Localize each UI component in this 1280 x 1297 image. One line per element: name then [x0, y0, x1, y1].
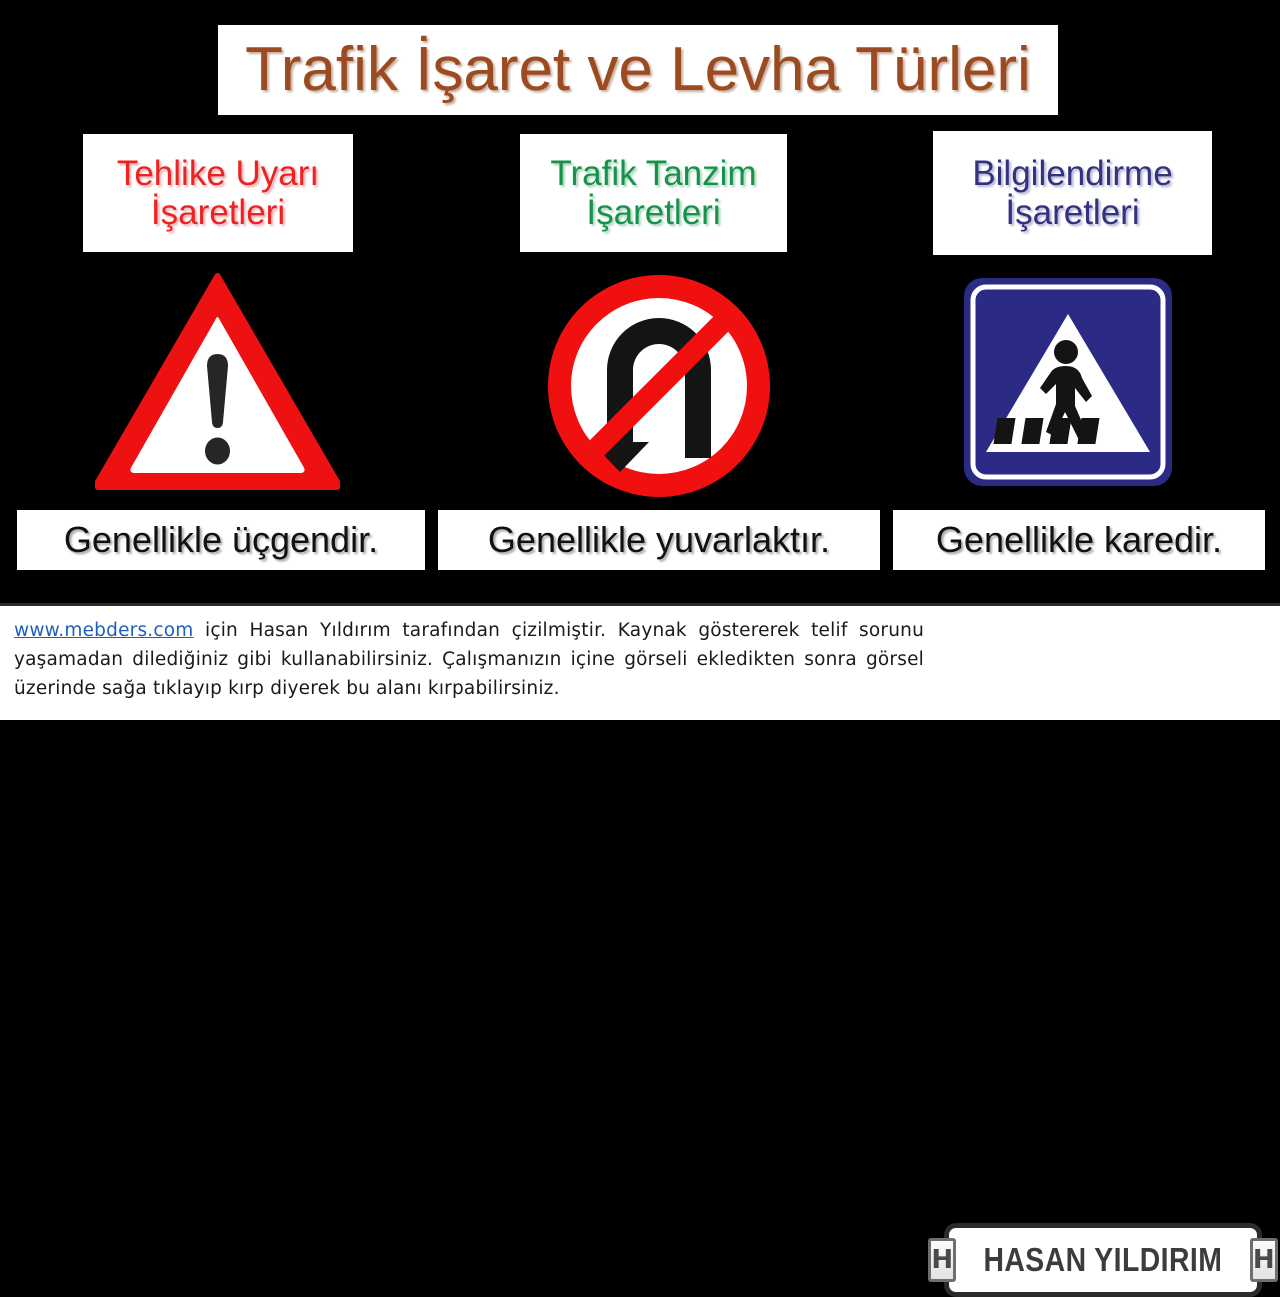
- category-header-line-1: Bilgilendirme: [972, 154, 1172, 193]
- hasan-yildirim-logo: H HASAN YILDIRIM H: [944, 1223, 1262, 1297]
- danger-warning-triangle-sign: [95, 272, 340, 490]
- category-header-line-1: Tehlike Uyarı: [117, 154, 319, 193]
- footer-bar: www.mebders.com için Hasan Yıldırım tara…: [0, 603, 1280, 720]
- page-title: Trafik İşaret ve Levha Türleri: [245, 39, 1031, 101]
- sign-slot-tehlike-uyari: [95, 272, 340, 490]
- caption-box-bilgilendirme: Genellikle karedir.: [893, 510, 1265, 570]
- monogram-right-icon: H: [1250, 1238, 1278, 1282]
- caption-box-tehlike-uyari: Genellikle üçgendir.: [17, 510, 425, 570]
- category-header-trafik-tanzim: Trafik Tanzim İşaretleri: [520, 134, 787, 252]
- title-banner: Trafik İşaret ve Levha Türleri: [218, 25, 1058, 115]
- caption-text: Genellikle üçgendir.: [64, 519, 378, 561]
- category-header-line-2: İşaretleri: [586, 193, 720, 232]
- logo-name-text: HASAN YILDIRIM: [984, 1241, 1223, 1279]
- caption-text: Genellikle yuvarlaktır.: [488, 519, 830, 561]
- no-u-turn-prohibition-sign: [545, 272, 773, 500]
- footer-credit-text: www.mebders.com için Hasan Yıldırım tara…: [14, 616, 924, 703]
- category-header-bilgilendirme: Bilgilendirme İşaretleri: [933, 131, 1212, 255]
- slide-canvas: Trafik İşaret ve Levha Türleri Tehlike U…: [0, 0, 1280, 720]
- category-header-line-2: İşaretleri: [1005, 193, 1139, 232]
- sign-slot-bilgilendirme: [962, 276, 1174, 488]
- monogram-left-icon: H: [928, 1238, 956, 1282]
- mebders-website-link[interactable]: www.mebders.com: [14, 620, 193, 641]
- sign-slot-trafik-tanzim: [545, 272, 773, 500]
- category-header-line-2: İşaretleri: [151, 193, 285, 232]
- pedestrian-crossing-information-sign: [962, 276, 1174, 488]
- caption-box-trafik-tanzim: Genellikle yuvarlaktır.: [438, 510, 880, 570]
- caption-text: Genellikle karedir.: [936, 519, 1222, 561]
- category-header-tehlike-uyari: Tehlike Uyarı İşaretleri: [83, 134, 353, 252]
- category-header-line-1: Trafik Tanzim: [550, 154, 756, 193]
